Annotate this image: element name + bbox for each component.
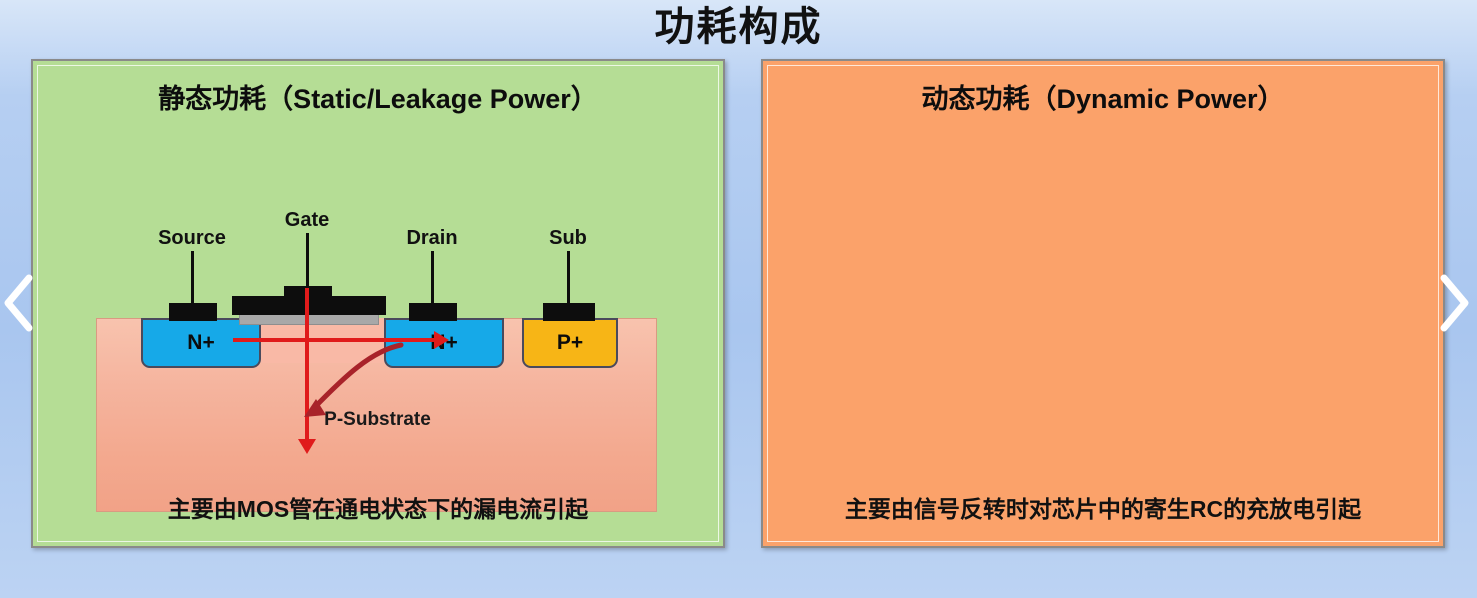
lead-wire-sub	[567, 251, 570, 305]
terminal-label-sub: Sub	[549, 227, 587, 250]
gate-oxide-layer	[239, 314, 379, 325]
slide-canvas: 功耗构成 静态功耗（Static/Leakage Power） Source G…	[0, 0, 1477, 598]
panel-dynamic-power: 动态功耗（Dynamic Power）	[761, 59, 1445, 548]
panel-dynamic-title: 动态功耗（Dynamic Power）	[763, 77, 1443, 116]
terminal-label-gate: Gate	[285, 209, 329, 232]
chevron-right-icon[interactable]	[1437, 272, 1471, 334]
diffusion-region-substrate-tap: P+	[522, 318, 618, 368]
lead-wire-source	[191, 251, 194, 305]
leakage-arrow-junction-curve	[276, 327, 456, 487]
panel-static-caption: 主要由MOS管在通电状态下的漏电流引起	[33, 490, 723, 524]
panel-dynamic-caption: 主要由信号反转时对芯片中的寄生RC的充放电引起	[763, 490, 1443, 524]
terminal-label-drain: Drain	[406, 227, 457, 250]
panel-static-power: 静态功耗（Static/Leakage Power） Source Gate D…	[31, 59, 725, 548]
mosfet-cross-section-diagram: Source Gate Drain Sub P-Substrate N+ N+ …	[96, 207, 657, 517]
page-title: 功耗构成	[0, 2, 1477, 52]
contact-pad-drain	[409, 303, 457, 321]
terminal-label-source: Source	[158, 227, 226, 250]
panel-dynamic-inner-border	[767, 65, 1439, 542]
contact-pad-substrate	[543, 303, 595, 321]
panel-static-title: 静态功耗（Static/Leakage Power）	[33, 77, 723, 116]
diffusion-region-source: N+	[141, 318, 261, 368]
chevron-left-icon[interactable]	[2, 272, 36, 334]
contact-pad-source	[169, 303, 217, 321]
lead-wire-gate	[306, 233, 309, 289]
lead-wire-drain	[431, 251, 434, 305]
